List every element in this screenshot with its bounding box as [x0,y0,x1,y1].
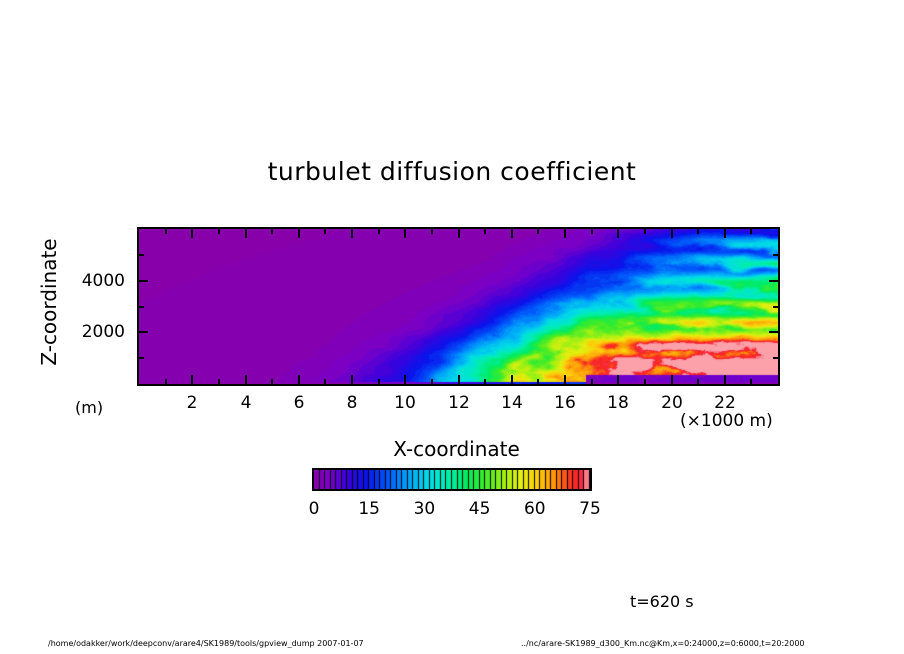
x-tick-label: 8 [322,393,382,413]
y-tick-major [139,280,148,282]
x-tick-major [724,229,726,238]
x-tick-label: 10 [375,393,435,413]
x-tick-minor [750,379,752,384]
x-tick-label: 18 [588,393,648,413]
x-tick-label: 6 [269,393,329,413]
x-tick-minor [484,229,486,234]
x-tick-major [564,375,566,384]
x-tick-major [191,229,193,238]
y-tick-major [769,280,778,282]
x-tick-minor [750,229,752,234]
x-tick-major [245,375,247,384]
x-tick-major [564,229,566,238]
colorbar-tick-label: 0 [289,499,339,519]
x-tick-major [511,229,513,238]
x-tick-label: 22 [695,393,755,413]
x-axis-title: X-coordinate [137,437,776,461]
x-tick-major [617,375,619,384]
colorbar-tick-label: 60 [510,499,560,519]
x-tick-minor [644,379,646,384]
y-axis-title: Z-coordinate [37,207,61,397]
x-tick-major [617,229,619,238]
colorbar-tick-label: 45 [455,499,505,519]
x-tick-label: 2 [162,393,222,413]
y-tick-minor [139,254,144,256]
x-tick-major [351,375,353,384]
x-tick-major [245,229,247,238]
x-axis-unit: (×1000 m) [680,411,773,431]
y-tick-minor [139,306,144,308]
x-tick-major [191,375,193,384]
x-tick-major [298,229,300,238]
x-tick-minor [591,229,593,234]
footer-data-source: ../nc/arare-SK1989_d300_Km.nc@Km,x=0:240… [521,639,805,648]
y-tick-major [139,331,148,333]
x-tick-minor [378,229,380,234]
colorbar [312,468,592,491]
y-tick-minor [139,357,144,359]
page-title: turbulet diffusion coefficient [0,157,904,186]
x-tick-major [671,375,673,384]
x-tick-major [671,229,673,238]
x-tick-minor [271,229,273,234]
x-tick-minor [324,379,326,384]
x-tick-minor [218,229,220,234]
x-tick-major [458,229,460,238]
x-tick-minor [218,379,220,384]
x-tick-minor [697,379,699,384]
colorbar-canvas [314,470,590,489]
x-tick-minor [378,379,380,384]
x-tick-major [511,375,513,384]
x-tick-minor [591,379,593,384]
x-tick-major [724,375,726,384]
y-tick-minor [773,357,778,359]
colorbar-tick-label: 30 [399,499,449,519]
x-tick-minor [697,229,699,234]
x-tick-minor [537,229,539,234]
gpview-plot-page: turbulet diffusion coefficient 246810121… [0,0,904,654]
x-tick-label: 14 [482,393,542,413]
x-tick-major [351,229,353,238]
x-tick-minor [484,379,486,384]
x-tick-minor [431,229,433,234]
x-tick-minor [537,379,539,384]
turbulence-field-canvas [139,229,778,384]
x-tick-label: 16 [535,393,595,413]
time-annotation: t=620 s [630,592,694,611]
x-tick-major [458,375,460,384]
y-axis-unit: (m) [75,398,103,417]
x-tick-label: 4 [216,393,276,413]
x-tick-minor [644,229,646,234]
x-tick-label: 12 [429,393,489,413]
y-tick-minor [773,306,778,308]
x-tick-major [404,375,406,384]
colorbar-gradient [312,468,592,491]
x-tick-minor [271,379,273,384]
x-tick-minor [165,379,167,384]
y-tick-minor [773,254,778,256]
x-tick-major [298,375,300,384]
x-tick-label: 20 [642,393,702,413]
colorbar-tick-label: 75 [565,499,615,519]
contour-plot-area [137,227,780,386]
x-tick-minor [165,229,167,234]
y-tick-major [769,331,778,333]
colorbar-tick-label: 15 [344,499,394,519]
x-tick-minor [431,379,433,384]
footer-command-path: /home/odakker/work/deepconv/arare4/SK198… [48,639,364,648]
x-tick-minor [324,229,326,234]
x-tick-major [404,229,406,238]
